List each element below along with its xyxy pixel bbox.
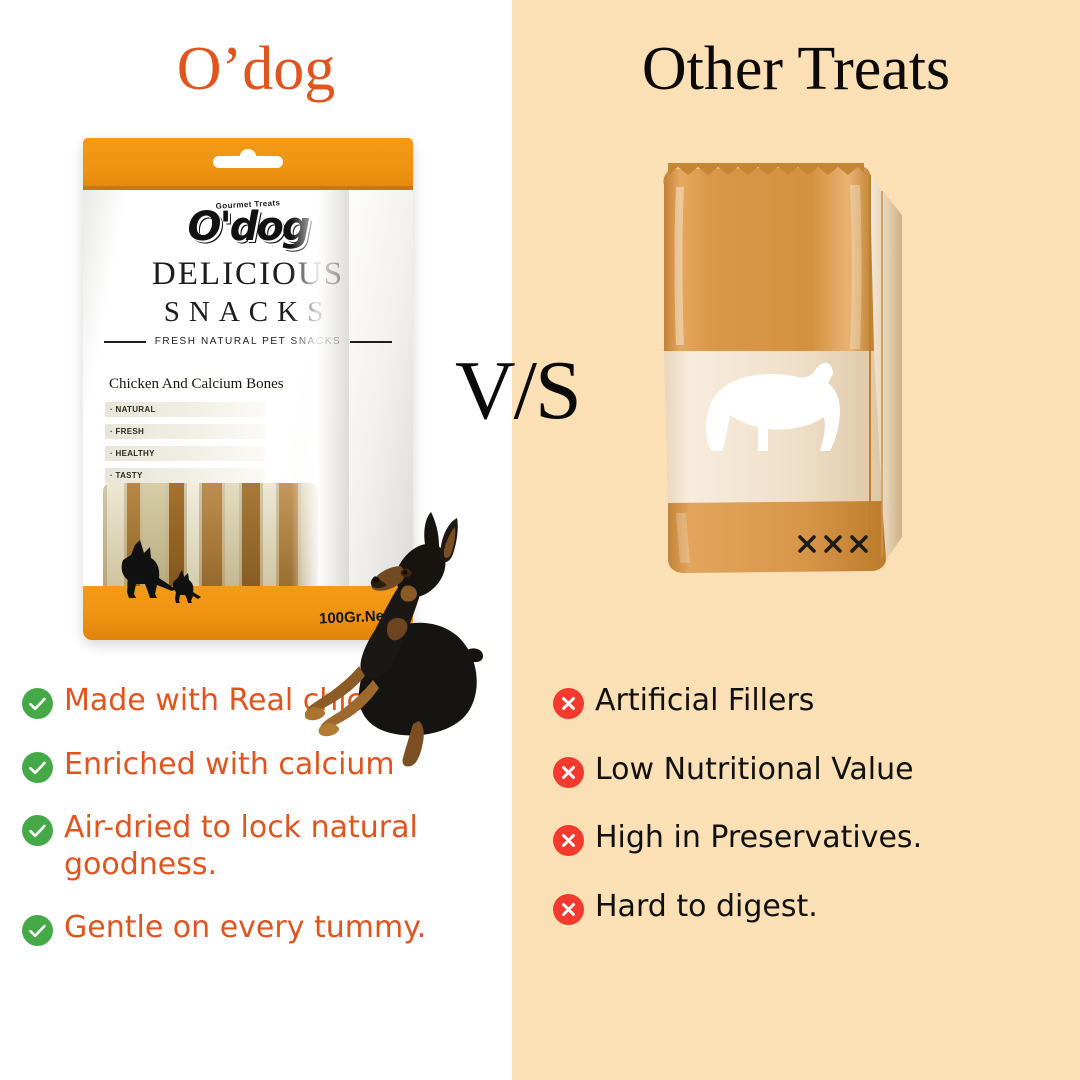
claim-item: · FRESH xyxy=(105,424,265,439)
package-tagline: FRESH NATURAL PET SNACKS xyxy=(83,336,413,347)
cons-list: Artificial Fillers Low Nutritional Value… xyxy=(553,683,1053,957)
list-item-label: Hard to digest. xyxy=(595,889,818,926)
list-item-label: Low Nutritional Value xyxy=(595,752,914,789)
check-circle-icon xyxy=(22,815,53,846)
list-item: Hard to digest. xyxy=(553,889,1053,926)
package-claims-list: · NATURAL · FRESH · HEALTHY · TASTY xyxy=(105,402,265,490)
package-line-snacks: SNACKS xyxy=(83,296,413,329)
puppy-silhouette-icon xyxy=(167,568,205,604)
check-circle-icon xyxy=(22,688,53,719)
comparison-infographic: O’dog Other Treats Gourmet Treats O'dog … xyxy=(0,0,1080,1080)
cross-circle-icon xyxy=(553,688,584,719)
claim-item: · TASTY xyxy=(105,468,265,483)
package-flavor: Chicken And Calcium Bones xyxy=(109,376,284,393)
cross-circle-icon xyxy=(553,894,584,925)
dog-photo xyxy=(305,510,510,778)
list-item: Air-dried to lock natural goodness. xyxy=(22,810,492,883)
generic-treat-package xyxy=(650,145,920,595)
odog-logo: O'dog xyxy=(188,204,309,250)
odog-product-package: Gourmet Treats O'dog DELICIOUS SNACKS FR… xyxy=(83,138,413,640)
list-item-label: Gentle on every tummy. xyxy=(64,910,426,947)
cross-circle-icon xyxy=(553,757,584,788)
list-item-label: High in Preservatives. xyxy=(595,820,922,857)
cross-circle-icon xyxy=(553,825,584,856)
pouch-top-band xyxy=(83,138,413,190)
list-item: High in Preservatives. xyxy=(553,820,1053,857)
check-circle-icon xyxy=(22,752,53,783)
list-item: Artificial Fillers xyxy=(553,683,1053,720)
claim-item: · HEALTHY xyxy=(105,446,265,461)
package-line-delicious: DELICIOUS xyxy=(83,256,413,293)
left-column-heading: O’dog xyxy=(0,38,512,100)
tagline-rule-right xyxy=(350,341,392,343)
check-circle-icon xyxy=(22,915,53,946)
right-column-heading: Other Treats xyxy=(512,38,1080,100)
claim-item: · NATURAL xyxy=(105,402,265,417)
list-item-label: Air-dried to lock natural goodness. xyxy=(64,810,492,883)
versus-label: V/S xyxy=(455,345,573,437)
list-item: Low Nutritional Value xyxy=(553,752,1053,789)
hang-hole-icon xyxy=(213,156,283,168)
tagline-text: FRESH NATURAL PET SNACKS xyxy=(155,336,342,347)
list-item-label: Artificial Fillers xyxy=(595,683,814,720)
list-item: Gentle on every tummy. xyxy=(22,910,492,947)
tagline-rule-left xyxy=(104,341,146,343)
